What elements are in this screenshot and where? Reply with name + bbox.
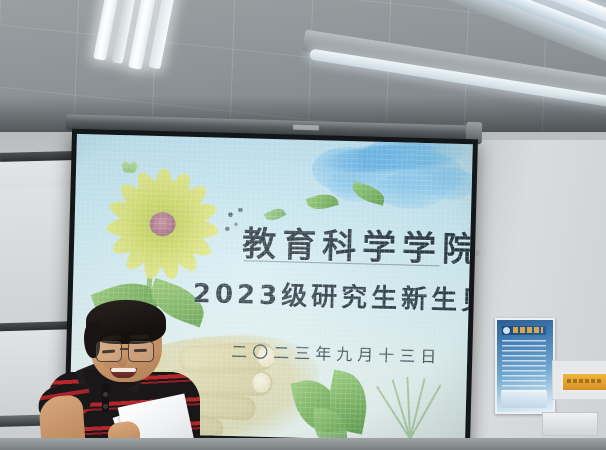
presenter-nose <box>118 354 127 367</box>
eyeglass-bridge <box>120 348 128 350</box>
orange-warning-sign <box>561 372 606 392</box>
wall-equipment-strip[interactable] <box>542 412 598 436</box>
poster-emblem-icon <box>503 327 510 334</box>
poster-illustration <box>501 390 547 408</box>
presenter-teeth <box>111 368 136 372</box>
shirt-button <box>103 392 108 397</box>
safety-notice-poster <box>495 318 555 414</box>
desk-edge <box>0 438 606 450</box>
classroom-photo: 教育科学学院 2023级研究生新生见面会 二〇二三年九月十三日 <box>0 0 606 450</box>
poster-body-text <box>502 340 546 392</box>
roller-brand-mark <box>293 125 319 131</box>
presenter <box>18 300 228 450</box>
poster-title-text <box>513 327 543 333</box>
eyeglass-lens <box>128 341 154 362</box>
shirt-button <box>103 404 108 409</box>
